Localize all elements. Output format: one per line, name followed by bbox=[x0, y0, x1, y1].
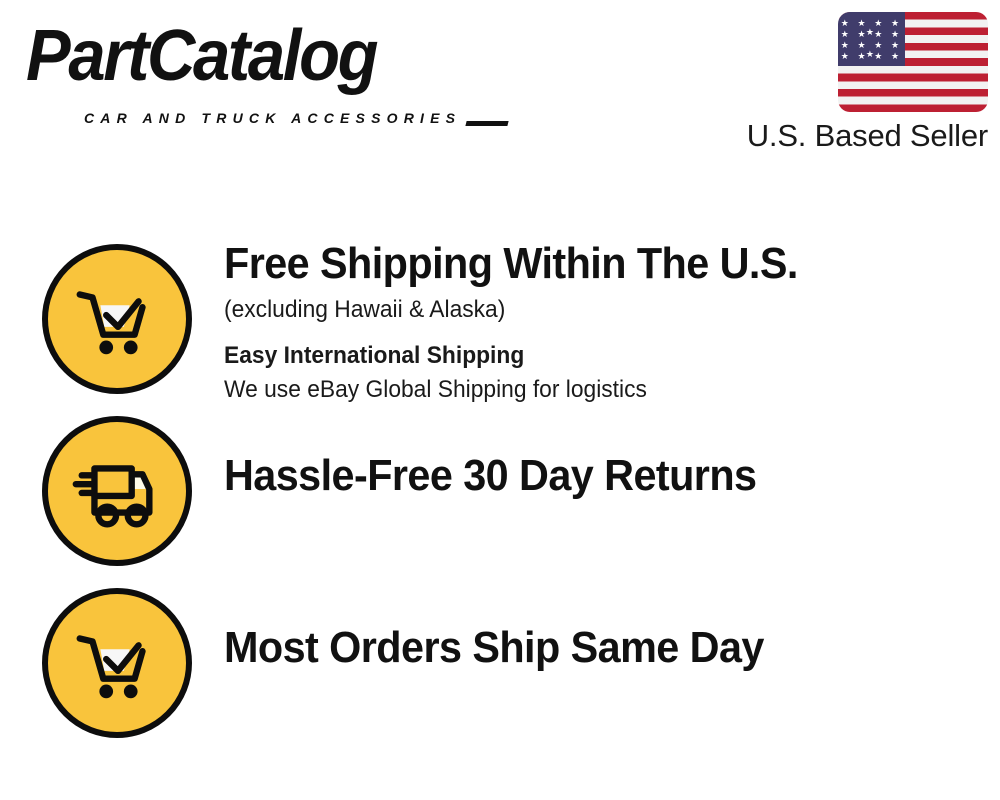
us-flag-icon: ★ ★ ★ ★ ★ ★ ★ ★ ★ ★ ★ ★ ★ ★ ★ ★ ★ ★ bbox=[838, 12, 988, 112]
brand-tagline: CAR AND TRUCK ACCESSORIES bbox=[84, 110, 461, 126]
shopping-cart-check-icon bbox=[42, 588, 192, 738]
flag-canton: ★ ★ ★ ★ ★ ★ ★ ★ ★ ★ ★ ★ ★ ★ ★ ★ ★ ★ bbox=[838, 12, 905, 66]
feature-row: Hassle-Free 30 Day Returns bbox=[0, 408, 1000, 580]
us-based-seller-label: U.S. Based Seller bbox=[726, 118, 988, 154]
feature-heading: Most Orders Ship Same Day bbox=[224, 622, 920, 674]
feature-subdetail: We use eBay Global Shipping for logistic… bbox=[224, 374, 927, 406]
brand-underline-accent bbox=[465, 121, 508, 126]
brand-wordmark: PartCatalog bbox=[26, 16, 376, 96]
feature-subtitle: Easy International Shipping bbox=[224, 340, 927, 372]
feature-text-block: Hassle-Free 30 Day Returns bbox=[224, 450, 964, 502]
feature-row: Free Shipping Within The U.S. (excluding… bbox=[0, 236, 1000, 408]
flag-star-row: ★ ★ ★ ★ ★ bbox=[838, 19, 905, 28]
shopping-cart-check-icon bbox=[42, 244, 192, 394]
feature-subnote: (excluding Hawaii & Alaska) bbox=[224, 294, 927, 326]
feature-heading: Free Shipping Within The U.S. bbox=[224, 238, 920, 290]
feature-text-block: Most Orders Ship Same Day bbox=[224, 622, 964, 674]
brand-logo[interactable]: PartCatalog CAR AND TRUCK ACCESSORIES bbox=[26, 22, 496, 117]
feature-row: Most Orders Ship Same Day bbox=[0, 580, 1000, 752]
page-header: PartCatalog CAR AND TRUCK ACCESSORIES ★ … bbox=[0, 0, 1000, 175]
flag-star-row: ★ ★ ★ ★ ★ bbox=[838, 41, 905, 50]
feature-heading: Hassle-Free 30 Day Returns bbox=[224, 450, 920, 502]
flag-star-row: ★ ★ ★ ★ bbox=[838, 52, 905, 61]
delivery-truck-icon bbox=[42, 416, 192, 566]
flag-star-row: ★ ★ ★ ★ bbox=[838, 30, 905, 39]
feature-text-block: Free Shipping Within The U.S. (excluding… bbox=[224, 238, 964, 406]
